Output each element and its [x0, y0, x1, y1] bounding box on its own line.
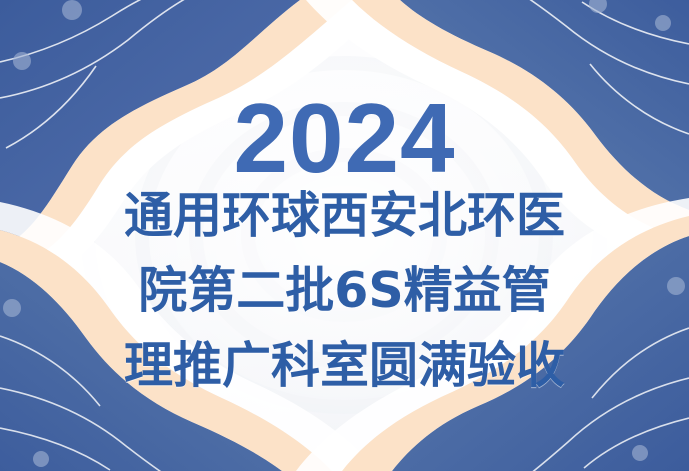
bottom-right-wave	[296, 198, 689, 471]
bottom-left-wave	[0, 202, 378, 471]
poster-canvas: 2024 通用环球西安北环医 院第二批6S精益管 理推广科室圆满验收	[0, 0, 689, 471]
dot-bottom-left-2	[3, 299, 21, 317]
dot-top-left-2	[13, 52, 31, 70]
dot-bottom-right-1	[632, 445, 648, 461]
dot-top-left-1	[62, 0, 82, 20]
dot-bottom-right-2	[667, 277, 685, 295]
dot-top-right-2	[655, 15, 671, 31]
dot-bottom-left-1	[33, 451, 49, 467]
corner-wave-decorations	[0, 0, 689, 471]
